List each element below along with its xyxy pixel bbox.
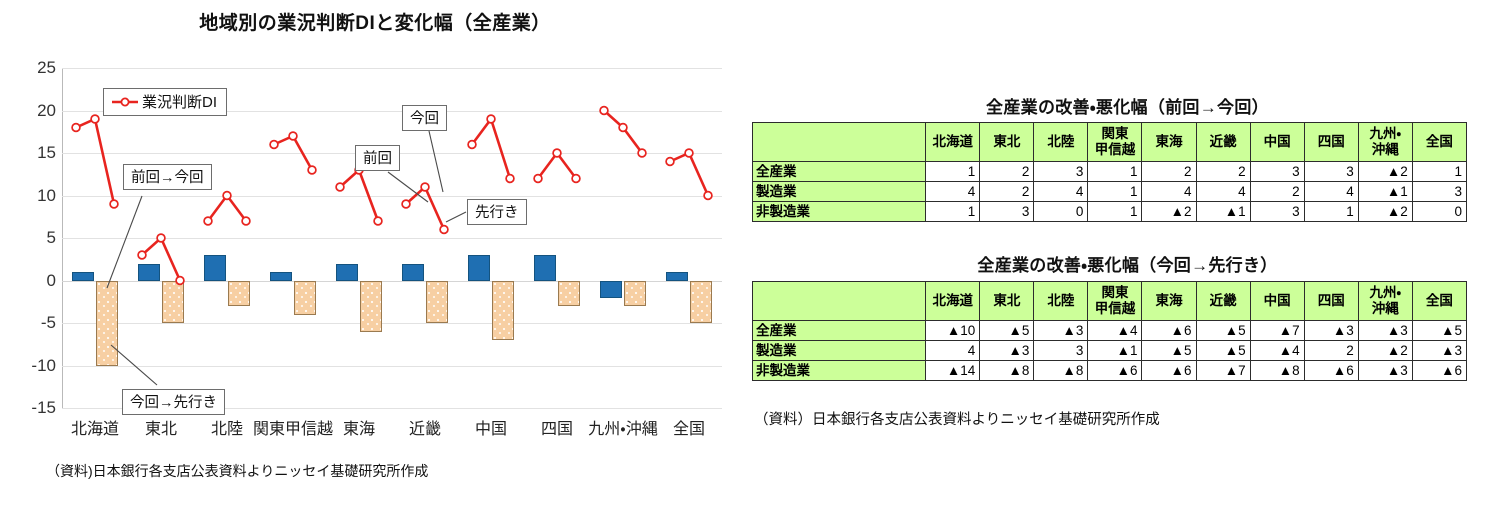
table-cell: ▲1 <box>1358 182 1412 202</box>
table-row: 非製造業▲14▲8▲8▲6▲6▲7▲8▲6▲3▲6 <box>753 361 1467 381</box>
table-cell: ▲14 <box>926 361 980 381</box>
table-column-header: 東海 <box>1142 123 1196 162</box>
table-cell: ▲3 <box>1412 341 1466 361</box>
table-cell: 2 <box>1142 162 1196 182</box>
table-cell: 3 <box>1250 202 1304 222</box>
table-cell: ▲2 <box>1358 202 1412 222</box>
table-cell: ▲3 <box>1304 321 1358 341</box>
table-cell: 1 <box>1412 162 1466 182</box>
table-cell: ▲4 <box>1250 341 1304 361</box>
table-improvement-prev-to-now: 北海道東北北陸関東甲信越東海近畿中国四国九州・沖縄全国全産業12312233▲2… <box>752 122 1467 222</box>
chart-source-note: （資料)日本銀行各支店公表資料よりニッセイ基礎研究所作成 <box>46 461 428 481</box>
table-cell: 4 <box>1304 182 1358 202</box>
table-corner-cell <box>753 123 926 162</box>
table-cell: ▲5 <box>1412 321 1466 341</box>
table-cell: ▲8 <box>980 361 1034 381</box>
table-column-header: 関東甲信越 <box>1088 282 1142 321</box>
table-cell: 1 <box>926 202 980 222</box>
table-row-label: 非製造業 <box>753 361 926 381</box>
table-cell: ▲5 <box>1196 321 1250 341</box>
table-cell: 1 <box>926 162 980 182</box>
table-cell: ▲3 <box>1358 321 1412 341</box>
table-cell: 0 <box>1034 202 1088 222</box>
callout-prev-to-now: 前回→今回 <box>123 164 212 190</box>
table-cell: 1 <box>1088 162 1142 182</box>
table-column-header: 中国 <box>1250 123 1304 162</box>
table-cell: 2 <box>1304 341 1358 361</box>
table-cell: 3 <box>980 202 1034 222</box>
table-cell: 3 <box>1304 162 1358 182</box>
table-column-header: 中国 <box>1250 282 1304 321</box>
table-row-label: 全産業 <box>753 162 926 182</box>
table-column-header: 四国 <box>1304 282 1358 321</box>
table-cell: ▲2 <box>1358 162 1412 182</box>
table-improvement-now-to-outlook: 北海道東北北陸関東甲信越東海近畿中国四国九州・沖縄全国全産業▲10▲5▲3▲4▲… <box>752 281 1467 381</box>
table-column-header: 北陸 <box>1034 123 1088 162</box>
callout-now: 今回 <box>402 105 447 131</box>
table-cell: 2 <box>1250 182 1304 202</box>
table-cell: ▲7 <box>1196 361 1250 381</box>
table-row: 製造業4▲33▲1▲5▲5▲42▲2▲3 <box>753 341 1467 361</box>
table-1-title: 全産業の改善・悪化幅（前回→今回） <box>770 93 1485 118</box>
table-column-header: 近畿 <box>1196 282 1250 321</box>
table-cell: ▲2 <box>1358 341 1412 361</box>
table-cell: 4 <box>926 341 980 361</box>
table-cell: 1 <box>1088 182 1142 202</box>
table-cell: 2 <box>980 162 1034 182</box>
table-row-label: 製造業 <box>753 341 926 361</box>
table-row: 全産業12312233▲21 <box>753 162 1467 182</box>
table-cell: 4 <box>1196 182 1250 202</box>
table-row: 全産業▲10▲5▲3▲4▲6▲5▲7▲3▲3▲5 <box>753 321 1467 341</box>
table-cell: ▲6 <box>1412 361 1466 381</box>
tables-panel: 全産業の改善・悪化幅（前回→今回） 北海道東北北陸関東甲信越東海近畿中国四国九州… <box>750 0 1503 514</box>
table-2-title: 全産業の改善・悪化幅（今回→先行き） <box>770 251 1485 276</box>
table-cell: ▲6 <box>1142 321 1196 341</box>
table-corner-cell <box>753 282 926 321</box>
table-row-label: 製造業 <box>753 182 926 202</box>
table-cell: ▲8 <box>1034 361 1088 381</box>
table-column-header: 全国 <box>1412 123 1466 162</box>
table-cell: 2 <box>980 182 1034 202</box>
table-cell: ▲10 <box>926 321 980 341</box>
table-column-header: 東北 <box>980 282 1034 321</box>
table-column-header: 九州・沖縄 <box>1358 282 1412 321</box>
table-cell: ▲5 <box>1142 341 1196 361</box>
chart-panel: 地域別の業況判断DIと変化幅（全産業） 2520151050-5-10-15 北… <box>0 0 750 514</box>
table-column-header: 全国 <box>1412 282 1466 321</box>
table-cell: 1 <box>1304 202 1358 222</box>
table-column-header: 北陸 <box>1034 282 1088 321</box>
table-column-header: 東北 <box>980 123 1034 162</box>
table-column-header: 近畿 <box>1196 123 1250 162</box>
table-column-header: 九州・沖縄 <box>1358 123 1412 162</box>
table-row: 製造業42414424▲13 <box>753 182 1467 202</box>
table-cell: 4 <box>926 182 980 202</box>
table-cell: 2 <box>1196 162 1250 182</box>
table-cell: ▲5 <box>980 321 1034 341</box>
callout-now-to-outlook: 今回→先行き <box>122 389 225 415</box>
table-cell: ▲3 <box>1358 361 1412 381</box>
table-cell: ▲7 <box>1250 321 1304 341</box>
table-cell: ▲2 <box>1142 202 1196 222</box>
table-cell: 3 <box>1250 162 1304 182</box>
table-cell: ▲5 <box>1196 341 1250 361</box>
table-cell: ▲8 <box>1250 361 1304 381</box>
callout-leader-lines <box>0 0 750 514</box>
table-column-header: 北海道 <box>926 123 980 162</box>
table-row: 非製造業1301▲2▲131▲20 <box>753 202 1467 222</box>
table-cell: 4 <box>1142 182 1196 202</box>
table-cell: ▲4 <box>1088 321 1142 341</box>
table-column-header: 北海道 <box>926 282 980 321</box>
table-row-label: 非製造業 <box>753 202 926 222</box>
table-cell: ▲3 <box>980 341 1034 361</box>
table-column-header: 四国 <box>1304 123 1358 162</box>
table-cell: 4 <box>1034 182 1088 202</box>
table-cell: 0 <box>1412 202 1466 222</box>
table-cell: 1 <box>1088 202 1142 222</box>
table-row-label: 全産業 <box>753 321 926 341</box>
table-column-header: 東海 <box>1142 282 1196 321</box>
table-cell: ▲6 <box>1142 361 1196 381</box>
table-cell: 3 <box>1034 341 1088 361</box>
table-cell: 3 <box>1034 162 1088 182</box>
table-cell: ▲6 <box>1304 361 1358 381</box>
table-cell: ▲1 <box>1088 341 1142 361</box>
callout-outlook: 先行き <box>467 199 527 225</box>
tables-source-note: （資料）日本銀行各支店公表資料よりニッセイ基礎研究所作成 <box>754 408 1160 429</box>
callout-prev: 前回 <box>355 145 400 171</box>
table-cell: ▲1 <box>1196 202 1250 222</box>
screenshot-root: 地域別の業況判断DIと変化幅（全産業） 2520151050-5-10-15 北… <box>0 0 1503 514</box>
table-cell: ▲6 <box>1088 361 1142 381</box>
table-cell: 3 <box>1412 182 1466 202</box>
table-cell: ▲3 <box>1034 321 1088 341</box>
table-column-header: 関東甲信越 <box>1088 123 1142 162</box>
